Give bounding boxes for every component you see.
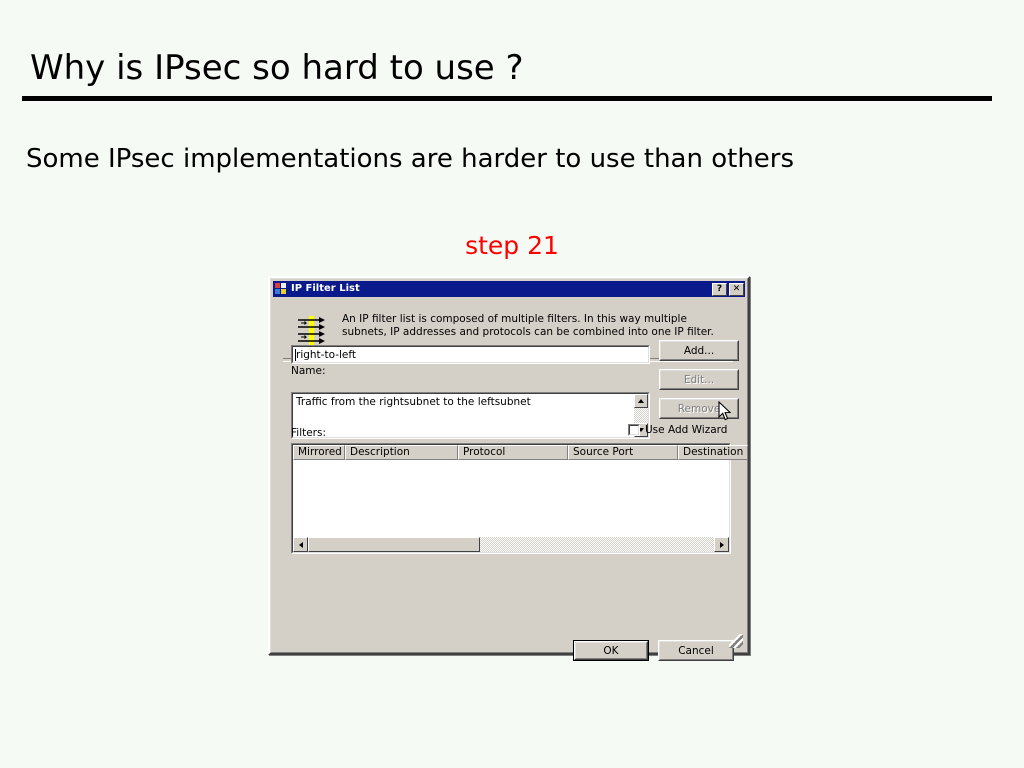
column-header-destination[interactable]: Destination [678,445,748,460]
name-label: Name: [291,365,326,377]
add-button-label: Add... [660,341,738,360]
filters-horizontal-scrollbar[interactable] [293,537,729,552]
use-add-wizard-checkbox[interactable]: Use Add Wizard [628,424,727,436]
hscroll-right-button[interactable] [714,537,729,552]
hscroll-thumb[interactable] [308,537,480,552]
slide-subtitle: Some IPsec implementations are harder to… [26,144,794,174]
hscroll-left-button[interactable] [293,537,308,552]
description-value: Traffic from the rightsubnet to the left… [296,396,531,408]
column-header-mirrored[interactable]: Mirrored [293,445,345,460]
ok-button[interactable]: OK [573,640,649,661]
filters-column-headers: Mirrored Description Protocol Source Por… [293,445,729,460]
filters-list[interactable]: Mirrored Description Protocol Source Por… [291,443,731,554]
chevron-right-icon [720,542,724,548]
checkbox-box[interactable] [628,424,640,436]
title-divider [22,96,992,101]
remove-button-label: Remove [660,399,738,418]
column-header-description[interactable]: Description [345,445,458,460]
description-textarea[interactable]: Traffic from the rightsubnet to the left… [291,392,650,439]
resize-grip[interactable] [729,634,743,648]
use-add-wizard-label: Use Add Wizard [645,424,727,436]
cancel-button[interactable]: Cancel [658,640,734,661]
ip-filter-list-icon [275,283,288,295]
page-title: Why is IPsec so hard to use ? [30,48,524,88]
column-header-source-port[interactable]: Source Port [568,445,678,460]
column-header-protocol[interactable]: Protocol [458,445,568,460]
filters-label: Filters: [291,427,326,439]
dialog-titlebar: IP Filter List ? ✕ [273,281,745,297]
edit-button-label: Edit... [660,370,738,389]
dialog-body: An IP filter list is composed of multipl… [273,299,745,650]
chevron-left-icon [299,542,303,548]
help-button[interactable]: ? [712,283,727,296]
close-button[interactable]: ✕ [729,283,744,296]
remove-button[interactable]: Remove [659,398,739,419]
filter-arrows-icon [297,315,327,347]
cancel-button-label: Cancel [659,641,733,660]
add-button[interactable]: Add... [659,340,739,361]
dialog-title-text: IP Filter List [291,281,710,297]
edit-button[interactable]: Edit... [659,369,739,390]
step-label: step 21 [0,231,1024,260]
filters-rows-area[interactable] [293,460,729,537]
name-input[interactable]: right-to-left [291,345,650,364]
ok-button-label: OK [575,642,647,659]
ip-filter-list-dialog: IP Filter List ? ✕ [268,276,750,655]
chevron-up-icon [638,399,644,403]
scroll-up-button[interactable] [634,394,648,408]
name-input-value: right-to-left [296,349,356,361]
scroll-track[interactable] [634,408,648,423]
